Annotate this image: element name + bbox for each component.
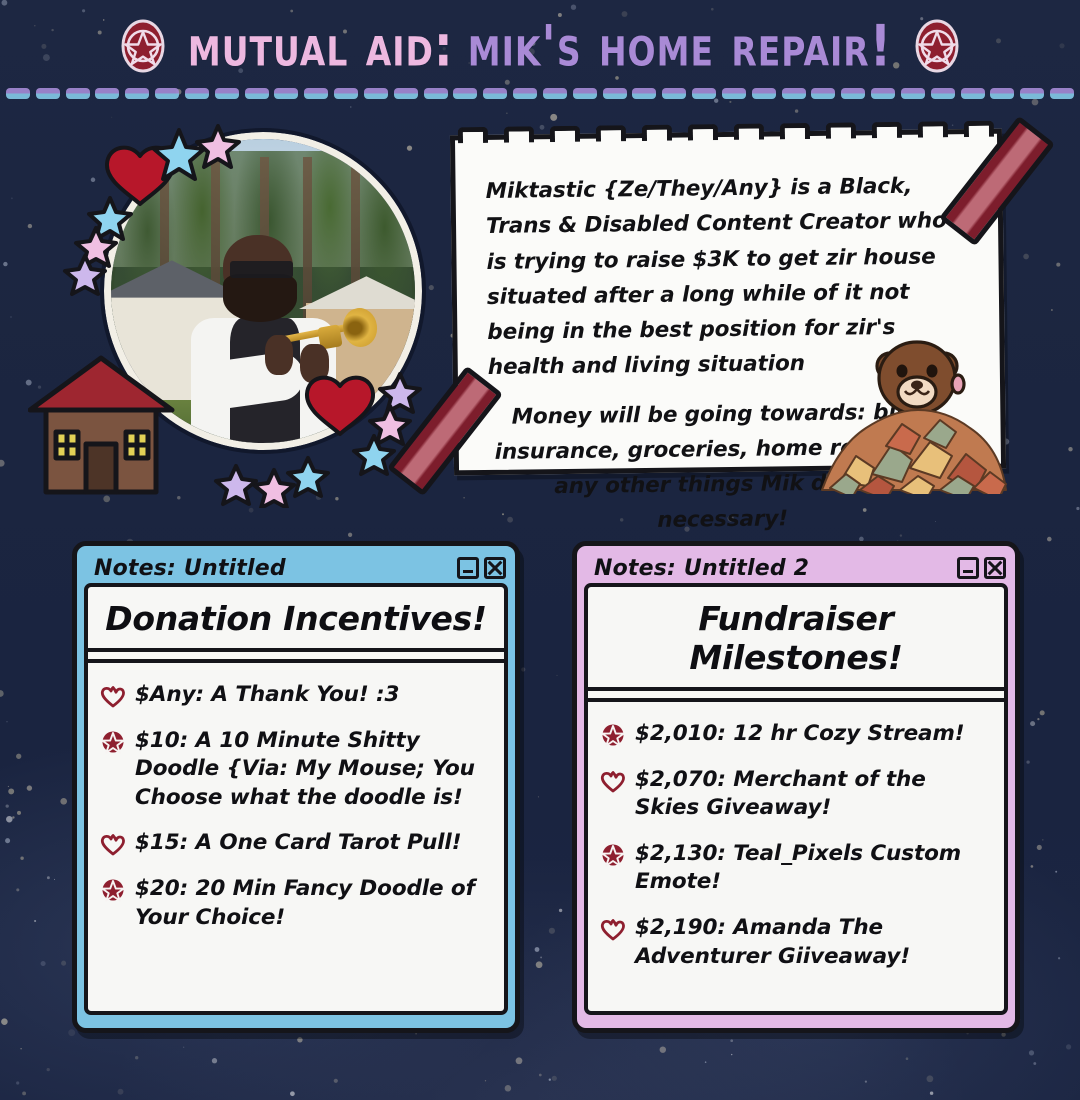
paper-tooth: [550, 126, 580, 142]
divider-dash: [185, 88, 209, 99]
star-icon: [288, 458, 328, 496]
star-icon: [216, 466, 256, 504]
list-item: $15: A One Card Tarot Pull!: [100, 829, 490, 858]
paper-tooth: [964, 121, 994, 137]
minimize-icon[interactable]: [457, 557, 479, 579]
dashed-divider: [0, 88, 1080, 104]
close-icon[interactable]: [484, 557, 506, 579]
page-title: Mutual Aid:Mik's Home Repair!: [188, 17, 892, 74]
star-icon: [197, 126, 239, 167]
heart-icon: [100, 831, 126, 857]
divider-dash: [394, 88, 418, 99]
list-item: $Any: A Thank You! :3: [100, 681, 490, 710]
divider-dash: [632, 88, 656, 99]
window-heading: Donation Incentives!: [88, 587, 504, 648]
paper-tooth: [918, 121, 948, 137]
heart-icon: [600, 916, 626, 942]
divider-dash: [155, 88, 179, 99]
star-icon: [254, 470, 294, 508]
paper-tooth: [504, 126, 534, 142]
notes-window-milestones[interactable]: Notes: Untitled 2 Fundraiser Milestones!…: [572, 541, 1020, 1033]
list-item-label: $2,070: Merchant of the Skies Giveaway!: [635, 766, 990, 823]
divider-dash: [901, 88, 925, 99]
list-item-label: $15: A One Card Tarot Pull!: [135, 829, 461, 858]
window-controls: [457, 557, 506, 579]
title-segment-1: Mutual Aid:: [188, 12, 454, 79]
paper-tooth: [826, 122, 856, 138]
divider-dash: [215, 88, 239, 99]
window-titlebar[interactable]: Notes: Untitled 2: [584, 553, 1008, 583]
paper-tooth: [458, 127, 488, 143]
list-item-label: $Any: A Thank You! :3: [135, 681, 399, 710]
divider-dash: [125, 88, 149, 99]
window-body: Fundraiser Milestones! $2,010: 12 hr Coz…: [584, 583, 1008, 1015]
list-item-label: $2,190: Amanda The Adventurer Giiveaway!: [635, 914, 990, 971]
divider-dash: [453, 88, 477, 99]
divider-dash: [304, 88, 328, 99]
divider-dash: [573, 88, 597, 99]
pentacle-icon: [120, 18, 166, 74]
list-item: $2,190: Amanda The Adventurer Giiveaway!: [600, 914, 990, 971]
minimize-icon[interactable]: [957, 557, 979, 579]
divider-dash: [990, 88, 1014, 99]
pentacle-icon: [914, 18, 960, 74]
divider-dash: [752, 88, 776, 99]
paper-tooth: [734, 124, 764, 140]
list-item: $2,070: Merchant of the Skies Giveaway!: [600, 766, 990, 823]
house-doodle-icon: [28, 350, 178, 496]
pentacle-icon: [600, 842, 626, 868]
divider-dash: [424, 88, 448, 99]
divider-dash: [36, 88, 60, 99]
divider-dash: [871, 88, 895, 99]
divider-dash: [931, 88, 955, 99]
poster-canvas: Mutual Aid:Mik's Home Repair!: [0, 0, 1080, 1100]
list-item: $2,010: 12 hr Cozy Stream!: [600, 720, 990, 749]
window-title: Notes: Untitled 2: [594, 556, 809, 581]
divider-dash: [603, 88, 627, 99]
divider-dash: [811, 88, 835, 99]
divider-dash: [662, 88, 686, 99]
divider-gap: [588, 691, 1004, 698]
milestone-list: $2,010: 12 hr Cozy Stream!$2,070: Mercha…: [588, 702, 1004, 1011]
divider-dash: [692, 88, 716, 99]
divider-dash: [483, 88, 507, 99]
paper-tooth: [642, 125, 672, 141]
divider-dash: [364, 88, 388, 99]
paper-tooth: [780, 123, 810, 139]
title-segment-2: Mik's Home Repair!: [468, 12, 892, 79]
divider-dash: [722, 88, 746, 99]
pentacle-icon: [600, 722, 626, 748]
divider-dash: [782, 88, 806, 99]
list-item: $10: A 10 Minute Shitty Doodle {Via: My …: [100, 727, 490, 813]
divider-dash: [961, 88, 985, 99]
intro-note-card: Miktastic {Ze/They/Any} is a Black, Tran…: [452, 132, 1004, 472]
divider-dash: [66, 88, 90, 99]
divider-dash: [334, 88, 358, 99]
divider-dash: [1020, 88, 1044, 99]
divider-dash: [513, 88, 537, 99]
list-item-label: $2,130: Teal_Pixels Custom Emote!: [635, 840, 990, 897]
divider-gap: [88, 652, 504, 659]
pentacle-icon: [100, 729, 126, 755]
heart-icon: [600, 768, 626, 794]
window-title: Notes: Untitled: [94, 556, 286, 581]
notes-window-incentives[interactable]: Notes: Untitled Donation Incentives! $An…: [72, 541, 520, 1033]
incentive-list: $Any: A Thank You! :3$10: A 10 Minute Sh…: [88, 663, 504, 1011]
star-icon: [380, 374, 420, 412]
paper-tooth: [872, 122, 902, 138]
bear-in-leaf-pile-icon: [816, 322, 1012, 494]
divider-dash: [543, 88, 567, 99]
list-item-label: $20: 20 Min Fancy Doodle of Your Choice!: [135, 875, 490, 932]
list-item-label: $10: A 10 Minute Shitty Doodle {Via: My …: [135, 727, 490, 813]
divider-dash: [841, 88, 865, 99]
window-heading: Fundraiser Milestones!: [588, 587, 1004, 687]
window-titlebar[interactable]: Notes: Untitled: [84, 553, 508, 583]
divider-dash: [95, 88, 119, 99]
paper-tooth: [596, 125, 626, 141]
poster-header: Mutual Aid:Mik's Home Repair!: [0, 0, 1080, 118]
list-item: $2,130: Teal_Pixels Custom Emote!: [600, 840, 990, 897]
heart-icon: [100, 683, 126, 709]
divider-dash: [1050, 88, 1074, 99]
divider-dash: [245, 88, 269, 99]
list-item: $20: 20 Min Fancy Doodle of Your Choice!: [100, 875, 490, 932]
hero-photo-block: [22, 118, 442, 508]
paper-tooth: [688, 124, 718, 140]
pentacle-icon: [100, 877, 126, 903]
window-body: Donation Incentives! $Any: A Thank You! …: [84, 583, 508, 1015]
close-icon[interactable]: [984, 557, 1006, 579]
divider-dash: [6, 88, 30, 99]
title-row: Mutual Aid:Mik's Home Repair!: [0, 6, 1080, 86]
window-controls: [957, 557, 1006, 579]
list-item-label: $2,010: 12 hr Cozy Stream!: [635, 720, 964, 749]
divider-dash: [274, 88, 298, 99]
heart-icon: [307, 378, 373, 434]
